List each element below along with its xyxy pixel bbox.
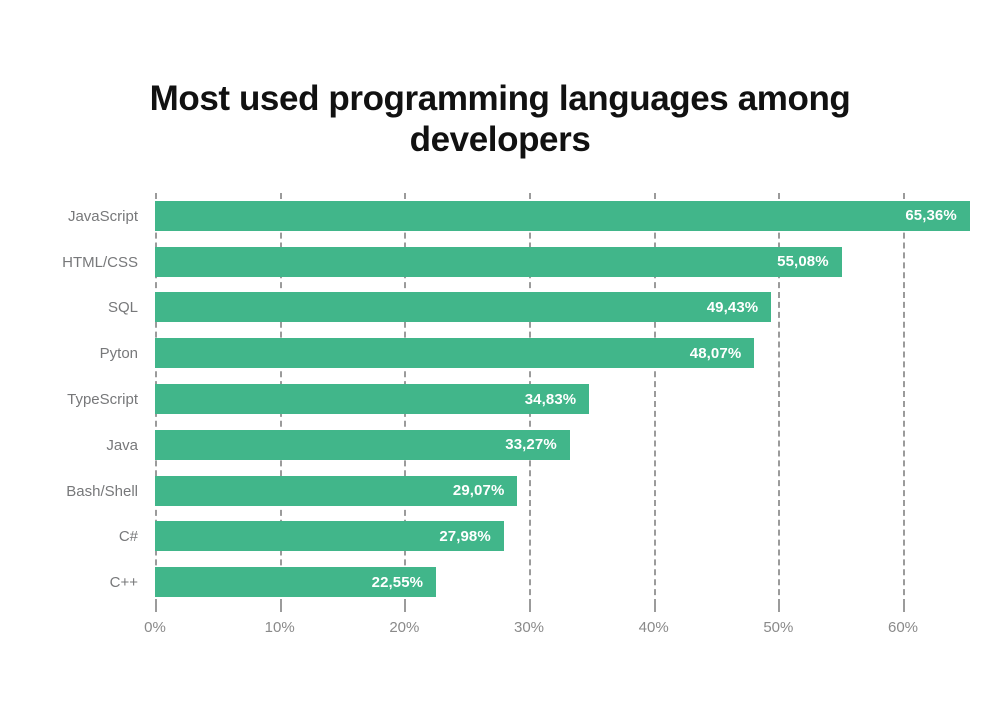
x-tick-label: 40% bbox=[639, 619, 669, 636]
x-tick-mark bbox=[654, 605, 656, 612]
bar-value-label: 49,43% bbox=[707, 299, 771, 316]
category-label: HTML/CSS bbox=[18, 254, 138, 271]
category-label: C++ bbox=[18, 574, 138, 591]
category-label: JavaScript bbox=[18, 208, 138, 225]
bar-value-label: 27,98% bbox=[439, 528, 503, 545]
bar[interactable]: 22,55% bbox=[155, 567, 436, 597]
bar-row: 34,83% bbox=[155, 384, 903, 414]
bar-row: 65,36% bbox=[155, 201, 903, 231]
bar-value-label: 65,36% bbox=[905, 207, 969, 224]
bar-row: 27,98% bbox=[155, 521, 903, 551]
bar[interactable]: 29,07% bbox=[155, 476, 517, 506]
category-label: Pyton bbox=[18, 345, 138, 362]
category-label: C# bbox=[18, 528, 138, 545]
x-tick-mark bbox=[280, 605, 282, 612]
chart-title: Most used programming languages among de… bbox=[100, 78, 900, 161]
x-tick-mark bbox=[404, 605, 406, 612]
bar-row: 22,55% bbox=[155, 567, 903, 597]
bar-value-label: 34,83% bbox=[525, 391, 589, 408]
bar-row: 29,07% bbox=[155, 476, 903, 506]
bar-row: 33,27% bbox=[155, 430, 903, 460]
x-tick-label: 0% bbox=[144, 619, 166, 636]
x-tick-label: 30% bbox=[514, 619, 544, 636]
category-label: SQL bbox=[18, 299, 138, 316]
bars-layer: 65,36%55,08%49,43%48,07%34,83%33,27%29,0… bbox=[155, 193, 903, 605]
bar-row: 49,43% bbox=[155, 292, 903, 322]
bar[interactable]: 33,27% bbox=[155, 430, 570, 460]
bar-value-label: 29,07% bbox=[453, 482, 517, 499]
bar-value-label: 48,07% bbox=[690, 345, 754, 362]
x-tick-mark bbox=[903, 605, 905, 612]
bar-value-label: 55,08% bbox=[777, 253, 841, 270]
category-label: Bash/Shell bbox=[18, 483, 138, 500]
x-tick-label: 60% bbox=[888, 619, 918, 636]
x-axis: 0%10%20%30%40%50%60% bbox=[155, 605, 903, 650]
bar[interactable]: 27,98% bbox=[155, 521, 504, 551]
x-tick-label: 20% bbox=[389, 619, 419, 636]
bar[interactable]: 34,83% bbox=[155, 384, 589, 414]
plot-area: 65,36%55,08%49,43%48,07%34,83%33,27%29,0… bbox=[155, 193, 903, 605]
bar-row: 55,08% bbox=[155, 247, 903, 277]
bar[interactable]: 49,43% bbox=[155, 292, 771, 322]
bar[interactable]: 48,07% bbox=[155, 338, 754, 368]
bar-row: 48,07% bbox=[155, 338, 903, 368]
x-tick-label: 10% bbox=[265, 619, 295, 636]
bar[interactable]: 55,08% bbox=[155, 247, 842, 277]
category-label: Java bbox=[18, 437, 138, 454]
x-tick-mark bbox=[529, 605, 531, 612]
y-axis-category-labels: JavaScript HTML/CSS SQL Pyton TypeScript… bbox=[18, 193, 138, 605]
category-label: TypeScript bbox=[18, 391, 138, 408]
bar[interactable]: 65,36% bbox=[155, 201, 970, 231]
gridline bbox=[903, 193, 905, 605]
bar-value-label: 22,55% bbox=[372, 574, 436, 591]
x-tick-label: 50% bbox=[763, 619, 793, 636]
chart-figure: Most used programming languages among de… bbox=[0, 0, 1000, 728]
bar-value-label: 33,27% bbox=[505, 436, 569, 453]
x-tick-mark bbox=[778, 605, 780, 612]
x-tick-mark bbox=[155, 605, 157, 612]
